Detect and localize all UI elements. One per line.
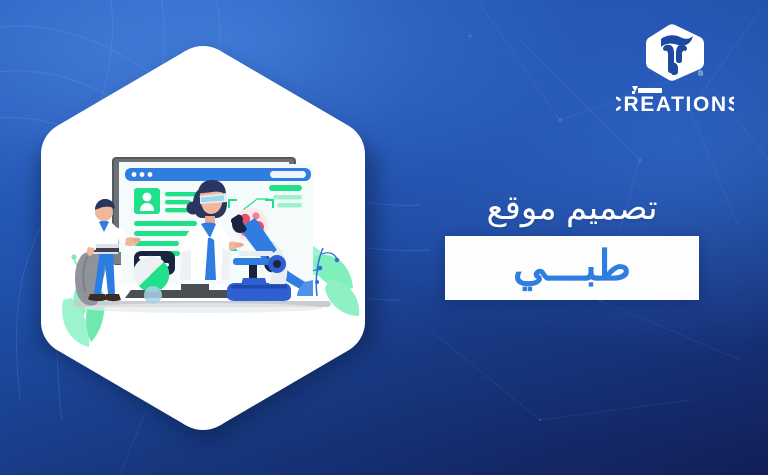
creations-wordmark: CREATIONS	[616, 84, 734, 114]
chip-3	[277, 203, 302, 208]
headline-highlight-box: طبـــي	[445, 236, 699, 300]
svg-text:®: ®	[698, 70, 704, 78]
brand-logo[interactable]: ® CREATIONS	[610, 22, 740, 118]
creations-cube-logo-icon: ®	[642, 22, 708, 82]
wordmark-text: CREATIONS	[616, 93, 734, 114]
chip-2	[273, 195, 302, 200]
poster-canvas: ® CREATIONS تصميم موقع طبـــي	[0, 0, 768, 475]
pill-circle	[144, 286, 162, 304]
medical-illustration	[33, 42, 373, 434]
headline-line-1: تصميم موقع	[442, 186, 702, 230]
headline-line-2: طبـــي	[513, 240, 631, 292]
hexagon-illustration-card	[33, 42, 373, 434]
browser-address-bar	[270, 171, 306, 178]
chip-1	[269, 185, 302, 191]
